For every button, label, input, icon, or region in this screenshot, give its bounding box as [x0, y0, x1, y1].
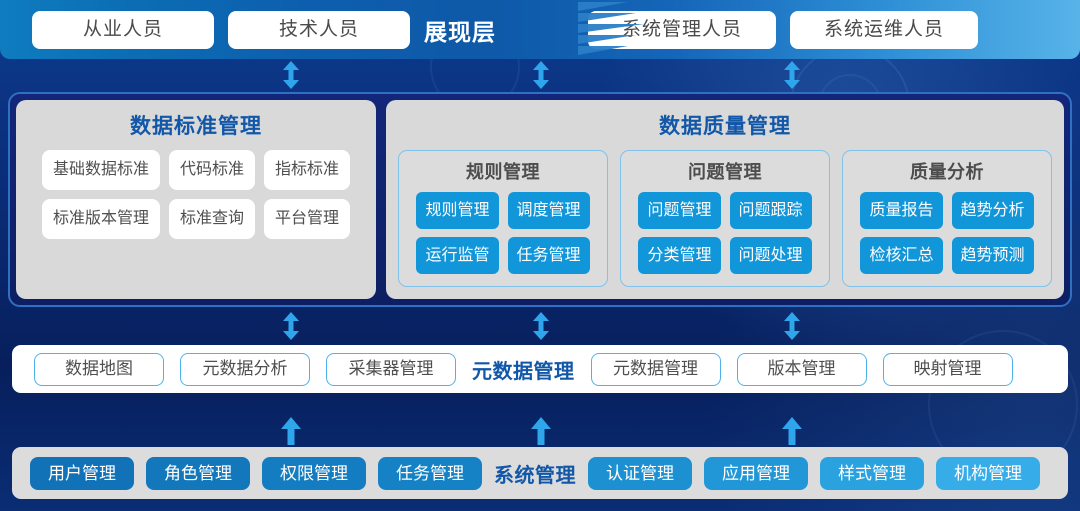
- subcard-rule-chips: 规则管理 调度管理 运行监管 任务管理: [416, 192, 589, 274]
- chip-indicator-standard[interactable]: 指标标准: [264, 150, 350, 190]
- data-standard-chip-grid: 基础数据标准 代码标准 指标标准 标准版本管理 标准查询 平台管理: [28, 150, 364, 239]
- chip-version-mgmt[interactable]: 版本管理: [737, 353, 867, 386]
- chip-task-mgmt[interactable]: 任务管理: [508, 237, 590, 274]
- chip-data-map[interactable]: 数据地图: [34, 353, 164, 386]
- data-quality-panel: 数据质量管理 规则管理 规则管理 调度管理 运行监管 任务管理 问题管理 问题管…: [386, 100, 1064, 299]
- core-layer-frame: 数据标准管理 基础数据标准 代码标准 指标标准 标准版本管理 标准查询 平台管理…: [8, 92, 1072, 307]
- data-quality-subcards: 规则管理 规则管理 调度管理 运行监管 任务管理 问题管理 问题管理 问题跟踪 …: [398, 150, 1052, 287]
- arrow-top-left: [282, 61, 300, 89]
- chip-trend-forecast[interactable]: 趋势预测: [952, 237, 1034, 274]
- chip-basic-data-standard[interactable]: 基础数据标准: [42, 150, 160, 190]
- subcard-rule-management: 规则管理 规则管理 调度管理 运行监管 任务管理: [398, 150, 608, 287]
- chip-issue-mgmt[interactable]: 问题管理: [638, 192, 720, 229]
- chip-code-standard[interactable]: 代码标准: [169, 150, 255, 190]
- chip-platform-mgmt[interactable]: 平台管理: [264, 199, 350, 239]
- metadata-layer-title: 元数据管理: [472, 355, 575, 384]
- subcard-analysis-title: 质量分析: [910, 158, 984, 184]
- data-quality-title: 数据质量管理: [398, 110, 1052, 140]
- data-standard-title: 数据标准管理: [28, 110, 364, 140]
- subcard-issue-title: 问题管理: [688, 158, 762, 184]
- arrow-bottom-left: [280, 417, 302, 445]
- arrow-bottom-center: [530, 417, 552, 445]
- chip-issue-tracking[interactable]: 问题跟踪: [730, 192, 812, 229]
- chip-user-mgmt[interactable]: 用户管理: [30, 457, 134, 490]
- arrow-mid-right: [783, 312, 801, 340]
- chip-metadata-mgmt[interactable]: 元数据管理: [591, 353, 721, 386]
- chip-schedule-mgmt[interactable]: 调度管理: [508, 192, 590, 229]
- metadata-layer-bar: 数据地图 元数据分析 采集器管理 元数据管理 元数据管理 版本管理 映射管理: [12, 345, 1068, 393]
- chip-auth-mgmt[interactable]: 认证管理: [588, 457, 692, 490]
- subcard-issue-chips: 问题管理 问题跟踪 分类管理 问题处理: [638, 192, 811, 274]
- arrow-mid-left: [282, 312, 300, 340]
- arrow-mid-center: [532, 312, 550, 340]
- chip-runtime-monitor[interactable]: 运行监管: [416, 237, 498, 274]
- chip-sys-task-mgmt[interactable]: 任务管理: [378, 457, 482, 490]
- chip-quality-report[interactable]: 质量报告: [860, 192, 942, 229]
- arrow-bottom-right: [781, 417, 803, 445]
- system-management-title: 系统管理: [494, 459, 576, 488]
- chip-trend-analysis[interactable]: 趋势分析: [952, 192, 1034, 229]
- presentation-layer-banner: 从业人员 技术人员 展现层 系统管理人员 系统运维人员: [0, 0, 1080, 59]
- chip-metadata-analysis[interactable]: 元数据分析: [180, 353, 310, 386]
- chip-issue-handling[interactable]: 问题处理: [730, 237, 812, 274]
- chip-role-mgmt[interactable]: 角色管理: [146, 457, 250, 490]
- chip-classification-mgmt[interactable]: 分类管理: [638, 237, 720, 274]
- chip-permission-mgmt[interactable]: 权限管理: [262, 457, 366, 490]
- chip-inspection-summary[interactable]: 检核汇总: [860, 237, 942, 274]
- system-management-bar: 用户管理 角色管理 权限管理 任务管理 系统管理 认证管理 应用管理 样式管理 …: [12, 447, 1068, 499]
- subcard-issue-management: 问题管理 问题管理 问题跟踪 分类管理 问题处理: [620, 150, 830, 287]
- subcard-analysis-chips: 质量报告 趋势分析 检核汇总 趋势预测: [860, 192, 1033, 274]
- presentation-layer-title: 展现层: [424, 13, 496, 47]
- arrow-top-center: [532, 61, 550, 89]
- banner-chip-sys-admin[interactable]: 系统管理人员: [588, 11, 776, 49]
- chip-standard-version-mgmt[interactable]: 标准版本管理: [42, 199, 160, 239]
- subcard-quality-analysis: 质量分析 质量报告 趋势分析 检核汇总 趋势预测: [842, 150, 1052, 287]
- banner-chip-technician[interactable]: 技术人员: [228, 11, 410, 49]
- chip-org-mgmt[interactable]: 机构管理: [936, 457, 1040, 490]
- chip-rule-mgmt[interactable]: 规则管理: [416, 192, 498, 229]
- chip-style-mgmt[interactable]: 样式管理: [820, 457, 924, 490]
- chip-standard-query[interactable]: 标准查询: [169, 199, 255, 239]
- chip-collector-mgmt[interactable]: 采集器管理: [326, 353, 456, 386]
- arrow-top-right: [783, 61, 801, 89]
- banner-chip-practitioner[interactable]: 从业人员: [32, 11, 214, 49]
- chip-mapping-mgmt[interactable]: 映射管理: [883, 353, 1013, 386]
- banner-chip-sys-ops[interactable]: 系统运维人员: [790, 11, 978, 49]
- data-standard-panel: 数据标准管理 基础数据标准 代码标准 指标标准 标准版本管理 标准查询 平台管理: [16, 100, 376, 299]
- architecture-diagram: 从业人员 技术人员 展现层 系统管理人员 系统运维人员: [0, 0, 1080, 511]
- chip-app-mgmt[interactable]: 应用管理: [704, 457, 808, 490]
- subcard-rule-title: 规则管理: [466, 158, 540, 184]
